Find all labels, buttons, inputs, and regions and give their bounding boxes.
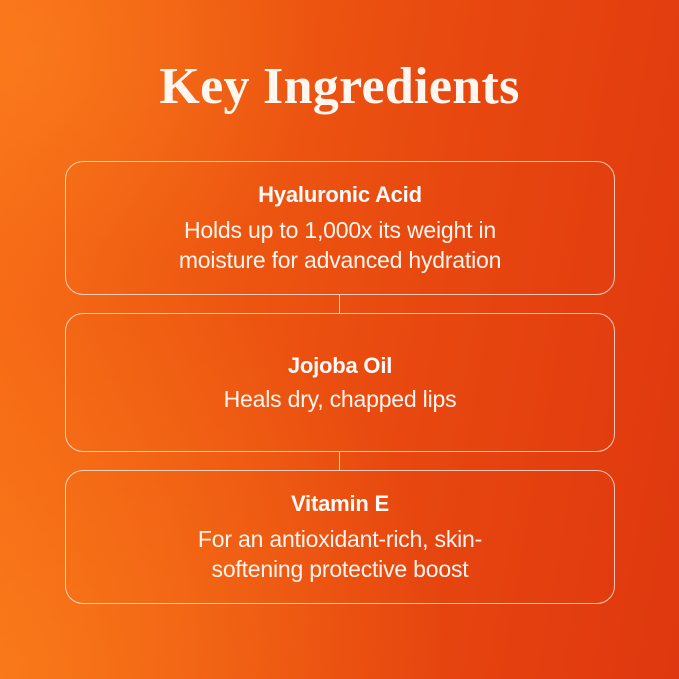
ingredient-card-heading: Vitamin E xyxy=(291,490,389,518)
ingredient-card-list: Hyaluronic Acid Holds up to 1,000x its w… xyxy=(65,161,615,604)
ingredient-card-body: Holds up to 1,000x its weight in moistur… xyxy=(179,215,501,275)
ingredient-card-body: For an antioxidant-rich, skin- softening… xyxy=(198,524,482,584)
key-ingredients-infographic: Key Ingredients Hyaluronic Acid Holds up… xyxy=(0,0,679,679)
ingredient-card-heading: Hyaluronic Acid xyxy=(258,181,422,209)
ingredient-card-heading: Jojoba Oil xyxy=(288,352,392,380)
ingredient-card-jojoba-oil: Jojoba Oil Heals dry, chapped lips xyxy=(65,313,615,452)
page-title: Key Ingredients xyxy=(0,58,679,116)
ingredient-card-body: Heals dry, chapped lips xyxy=(224,384,457,414)
card-connector-line-1 xyxy=(339,295,340,313)
ingredient-card-hyaluronic-acid: Hyaluronic Acid Holds up to 1,000x its w… xyxy=(65,161,615,295)
ingredient-card-vitamin-e: Vitamin E For an antioxidant-rich, skin-… xyxy=(65,470,615,604)
card-connector-line-2 xyxy=(339,452,340,470)
